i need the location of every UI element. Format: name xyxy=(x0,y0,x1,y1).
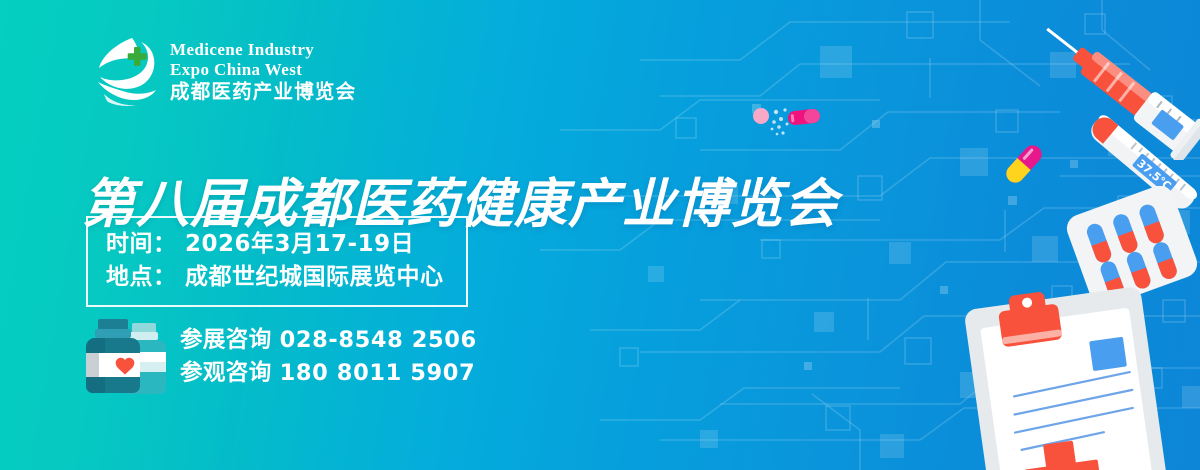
exhibitor-contact-number: 028-8548 2506 xyxy=(280,327,477,353)
contact-block: 参展咨询028-8548 2506 参观咨询180 8011 5907 xyxy=(86,318,477,396)
logo-chinese-name: 成都医药产业博览会 xyxy=(170,82,356,102)
event-date-line: 时间： 2026年3月17-19日 xyxy=(106,228,444,261)
event-info-box: 时间： 2026年3月17-19日 地点： 成都世纪城国际展览中心 xyxy=(86,216,468,307)
ribbon-cross-logo-icon xyxy=(96,34,160,108)
exhibitor-contact-label: 参展咨询 xyxy=(180,327,272,353)
visitor-contact-row: 参观咨询180 8011 5907 xyxy=(180,359,477,388)
visitor-contact-label: 参观咨询 xyxy=(180,360,272,386)
medicine-bottles-icon xyxy=(86,318,166,396)
event-venue-line: 地点： 成都世纪城国际展览中心 xyxy=(106,261,444,294)
visitor-contact-number: 180 8011 5907 xyxy=(280,360,476,386)
exhibitor-contact-row: 参展咨询028-8548 2506 xyxy=(180,326,477,355)
logo-english-line-1: Medicene Industry xyxy=(170,41,356,58)
event-banner: 37.5℃ xyxy=(0,0,1200,470)
logo-english-line-2: Expo China West xyxy=(170,61,356,78)
event-logo: Medicene Industry Expo China West 成都医药产业… xyxy=(96,34,356,108)
